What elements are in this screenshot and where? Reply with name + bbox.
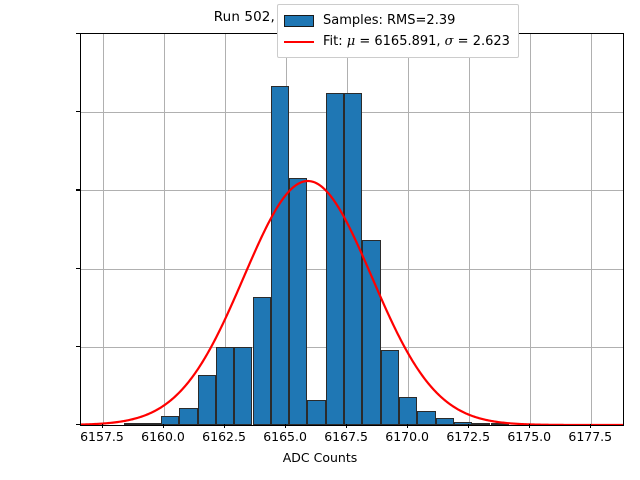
x-tick-label: 6175.0	[507, 429, 551, 444]
fit-curve-path	[81, 181, 623, 425]
x-tick-label: 6170.0	[385, 429, 429, 444]
x-tick-mark	[224, 424, 225, 428]
legend-entry-samples: Samples: RMS=2.39	[284, 10, 510, 31]
legend-label-fit: Fit: μ = 6165.891, σ = 2.623	[323, 34, 510, 49]
chart-figure: Run 502, channel064, Pedestal 0500100015…	[0, 0, 640, 480]
x-tick-mark	[407, 424, 408, 428]
x-tick-mark	[529, 424, 530, 428]
x-tick-label: 6177.5	[568, 429, 612, 444]
plot-area	[80, 33, 624, 426]
legend-patch-icon	[284, 15, 314, 27]
x-tick-mark	[590, 424, 591, 428]
legend: Samples: RMS=2.39 Fit: μ = 6165.891, σ =…	[277, 4, 519, 58]
x-tick-mark	[346, 424, 347, 428]
legend-line-icon	[284, 41, 314, 43]
x-tick-label: 6162.5	[202, 429, 246, 444]
legend-fit-sigma-value: = 2.623	[454, 34, 510, 49]
x-tick-label: 6172.5	[446, 429, 490, 444]
legend-entry-fit: Fit: μ = 6165.891, σ = 2.623	[284, 31, 510, 52]
y-tick-mark	[76, 268, 80, 269]
x-axis-label: ADC Counts	[0, 450, 640, 465]
x-tick-label: 6157.5	[80, 429, 124, 444]
y-tick-mark	[76, 424, 80, 425]
y-tick-mark	[76, 189, 80, 190]
legend-fit-prefix: Fit:	[323, 34, 347, 49]
legend-label-samples: Samples: RMS=2.39	[323, 13, 455, 28]
legend-fit-mu-symbol: μ	[347, 34, 355, 49]
legend-fit-mu-value: = 6165.891,	[355, 34, 444, 49]
legend-fit-sigma-symbol: σ	[445, 34, 454, 49]
x-tick-label: 6165.0	[263, 429, 307, 444]
y-axis-label: Entries	[0, 173, 2, 217]
x-tick-label: 6167.5	[324, 429, 368, 444]
fit-curve	[81, 34, 623, 425]
x-tick-mark	[102, 424, 103, 428]
x-tick-mark	[163, 424, 164, 428]
y-tick-mark	[76, 346, 80, 347]
x-tick-label: 6160.0	[141, 429, 185, 444]
y-tick-mark	[76, 33, 80, 34]
y-tick-mark	[76, 111, 80, 112]
x-tick-mark	[468, 424, 469, 428]
x-tick-mark	[285, 424, 286, 428]
